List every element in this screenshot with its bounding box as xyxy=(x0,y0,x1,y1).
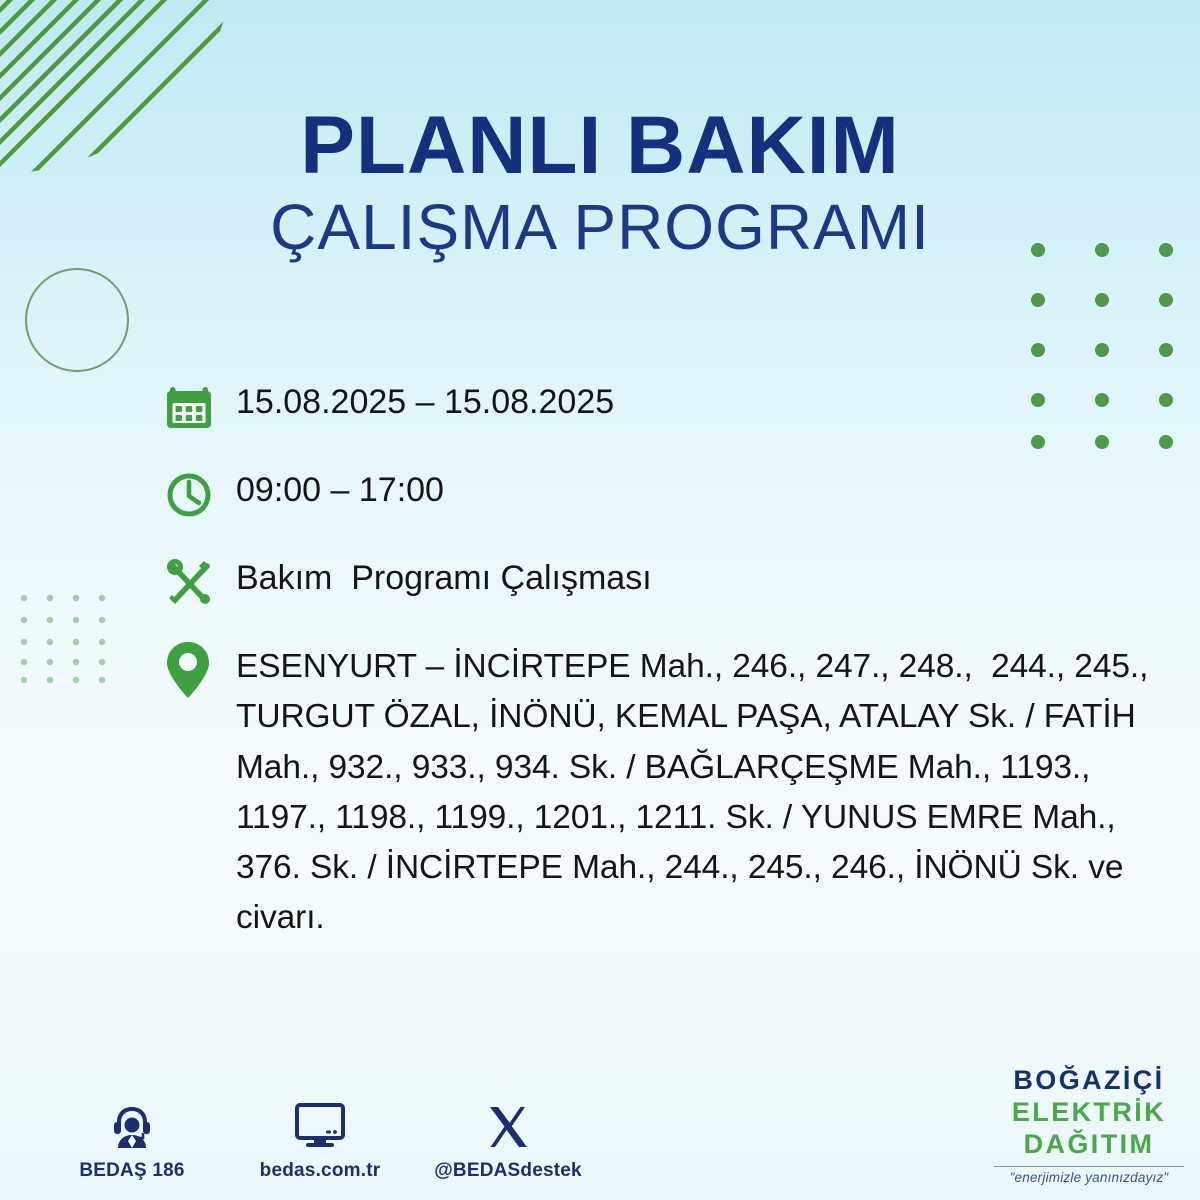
clock-icon xyxy=(164,466,236,524)
page-subtitle: ÇALIŞMA PROGRAMI xyxy=(0,194,1200,261)
brand-line-dagitim: DAĞITIM xyxy=(994,1131,1184,1158)
tools-icon xyxy=(164,554,236,612)
brand-line-bogazici: BOĞAZİÇİ xyxy=(994,1067,1184,1094)
x-twitter-icon xyxy=(484,1097,532,1151)
info-row-time: 09:00 – 17:00 xyxy=(164,466,1184,524)
poster-canvas: PLANLI BAKIM ÇALIŞMA PROGRAMI xyxy=(0,0,1200,1200)
circle-outline-decoration xyxy=(25,268,129,372)
dot-grid-decoration-left xyxy=(18,592,110,684)
contact-website-label: bedas.com.tr xyxy=(260,1160,381,1182)
map-pin-icon xyxy=(164,638,236,698)
page-title: PLANLI BAKIM xyxy=(0,104,1200,188)
headset-support-icon xyxy=(107,1097,157,1151)
info-row-work-type: Bakım Programı Çalışması xyxy=(164,554,1184,612)
work-type-text: Bakım Programı Çalışması xyxy=(236,554,652,598)
calendar-icon xyxy=(164,378,236,436)
contact-social[interactable]: @BEDASdestek xyxy=(438,1097,578,1182)
info-list: 15.08.2025 – 15.08.2025 09:00 – 17:00 xyxy=(164,378,1184,966)
footer-contacts: BEDAŞ 186 bedas.com.tr @BEDASdestek xyxy=(62,1097,578,1182)
contact-phone-label: BEDAŞ 186 xyxy=(79,1160,184,1182)
date-range-text: 15.08.2025 – 15.08.2025 xyxy=(236,378,614,422)
poster-header: PLANLI BAKIM ÇALIŞMA PROGRAMI xyxy=(0,104,1200,261)
brand-logo: BOĞAZİÇİ ELEKTRİK DAĞITIM "enerjimizle y… xyxy=(994,1067,1184,1185)
time-range-text: 09:00 – 17:00 xyxy=(236,466,444,510)
info-row-date: 15.08.2025 – 15.08.2025 xyxy=(164,378,1184,436)
location-text: ESENYURT – İNCİRTEPE Mah., 246., 247., 2… xyxy=(236,638,1184,944)
contact-phone[interactable]: BEDAŞ 186 xyxy=(62,1097,202,1182)
contact-social-label: @BEDASdestek xyxy=(434,1160,582,1182)
brand-tagline: "enerjimizle yanınızdayız" xyxy=(994,1166,1184,1185)
info-row-location: ESENYURT – İNCİRTEPE Mah., 246., 247., 2… xyxy=(164,638,1184,944)
contact-website[interactable]: bedas.com.tr xyxy=(250,1097,390,1182)
brand-line-elektrik: ELEKTRİK xyxy=(994,1099,1184,1126)
monitor-icon xyxy=(293,1097,347,1151)
